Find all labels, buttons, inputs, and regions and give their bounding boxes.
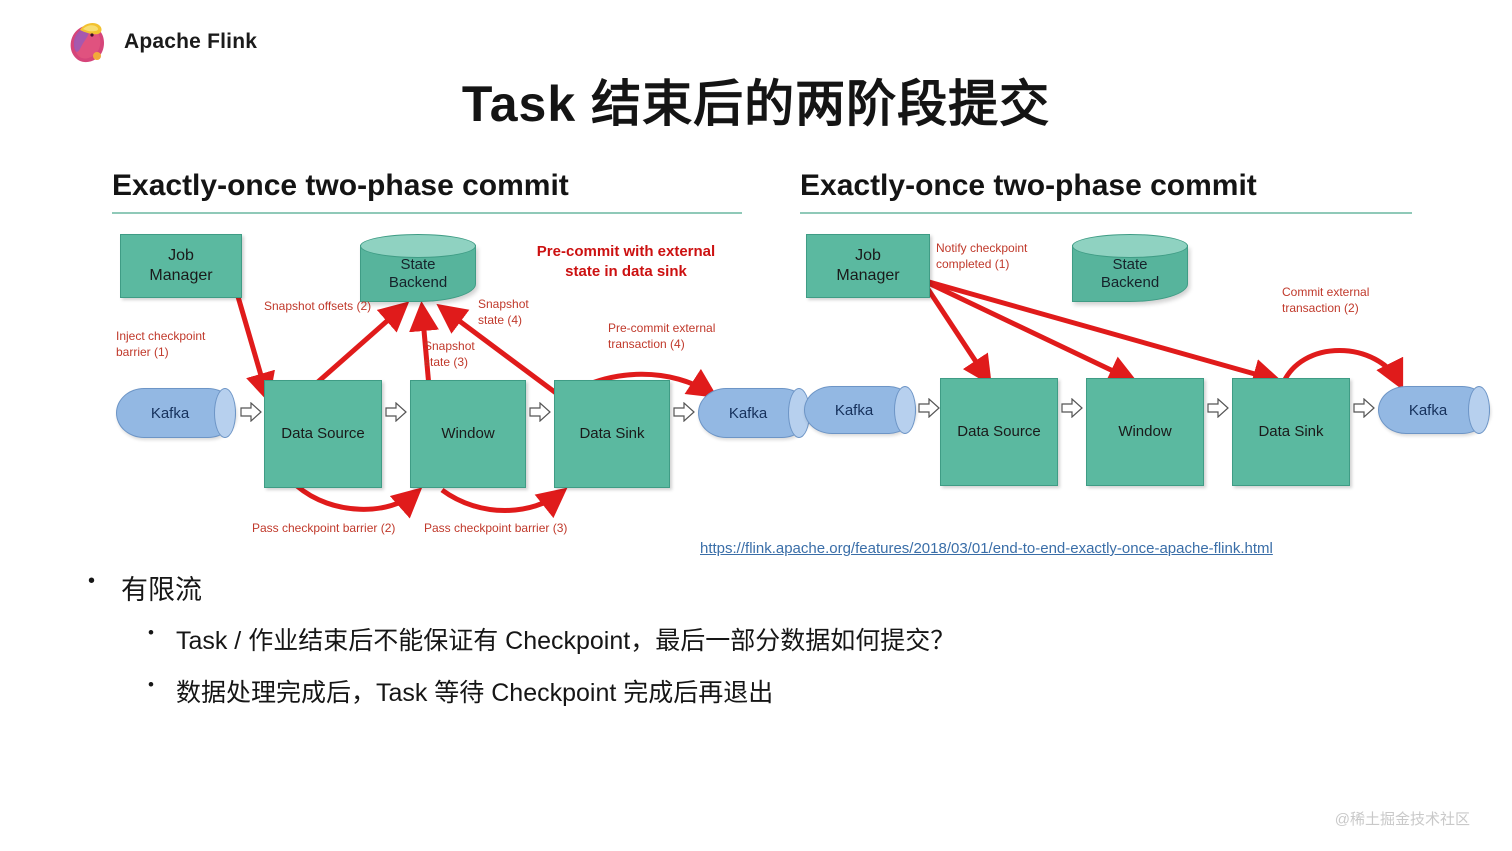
page-title: Task 结束后的两阶段提交 <box>0 64 1512 136</box>
node-label: Data Source <box>957 423 1040 441</box>
node-data-sink: Data Sink <box>554 380 670 488</box>
label-snapshot-state-4: Snapshot state (4) <box>478 296 558 328</box>
node-kafka-sink: Kafka <box>1378 386 1490 434</box>
node-state-backend: StateBackend <box>360 234 476 302</box>
flow-chevron-icon <box>673 402 695 422</box>
node-data-sink: Data Sink <box>1232 378 1350 486</box>
flink-squirrel-logo-icon <box>64 16 112 68</box>
node-label: Kafka <box>835 402 873 419</box>
bullet-level2-text: Task / 作业结束后不能保证有 Checkpoint，最后一部分数据如何提交… <box>176 621 955 657</box>
node-label: StateBackend <box>360 256 476 292</box>
node-job-manager: JobManager <box>806 234 930 298</box>
node-label: Kafka <box>1409 402 1447 419</box>
bullet-level2-text: 数据处理完成后，Task 等待 Checkpoint 完成后再退出 <box>176 673 773 709</box>
node-label: Window <box>441 425 494 443</box>
node-label: Window <box>1118 423 1171 441</box>
node-data-source: Data Source <box>940 378 1058 486</box>
diagram-panel-left: Exactly-once two-phase commit <box>112 168 742 538</box>
label-pass-checkpoint-barrier-2: Pass checkpoint barrier (2) <box>252 520 452 536</box>
node-label: JobManager <box>836 246 899 285</box>
node-label: Data Source <box>281 425 364 443</box>
watermark: @稀土掘金技术社区 <box>1335 808 1470 829</box>
bullet-level1: • 有限流 <box>88 568 1452 607</box>
node-kafka-source: Kafka <box>804 386 916 434</box>
node-label: Data Sink <box>1258 423 1323 441</box>
cylinder-top <box>360 234 476 258</box>
flow-chevron-icon <box>385 402 407 422</box>
cylinder-cap <box>1468 386 1490 434</box>
bullet-level2: • 数据处理完成后，Task 等待 Checkpoint 完成后再退出 <box>148 673 1452 709</box>
node-window: Window <box>1086 378 1204 486</box>
panel-rule-left <box>112 212 742 214</box>
source-link[interactable]: https://flink.apache.org/features/2018/0… <box>700 540 1273 557</box>
node-label: StateBackend <box>1072 256 1188 292</box>
flow-chevron-icon <box>1353 398 1375 418</box>
node-label: JobManager <box>149 246 212 285</box>
node-data-source: Data Source <box>264 380 382 488</box>
bullet-marker: • <box>148 673 154 698</box>
label-snapshot-offsets: Snapshot offsets (2) <box>264 298 414 314</box>
flow-chevron-icon <box>529 402 551 422</box>
diagram-panel-right: Exactly-once two-phase commit JobManager <box>800 168 1430 538</box>
panel-rule-right <box>800 212 1412 214</box>
flow-chevron-icon <box>1061 398 1083 418</box>
node-label: Kafka <box>729 405 767 422</box>
node-kafka-source: Kafka <box>116 388 236 438</box>
brand-name: Apache Flink <box>124 30 257 54</box>
brand: Apache Flink <box>64 16 257 68</box>
bullet-marker: • <box>88 568 95 595</box>
slide: Apache Flink Task 结束后的两阶段提交 Exactly-once… <box>0 0 1512 851</box>
panel-heading-left: Exactly-once two-phase commit <box>112 168 742 204</box>
label-commit-external-transaction: Commit external transaction (2) <box>1282 284 1432 316</box>
bullet-list: • 有限流 • Task / 作业结束后不能保证有 Checkpoint，最后一… <box>88 568 1452 725</box>
node-window: Window <box>410 380 526 488</box>
node-kafka-sink: Kafka <box>698 388 810 438</box>
node-job-manager: JobManager <box>120 234 242 298</box>
node-label: Data Sink <box>579 425 644 443</box>
bullet-level2: • Task / 作业结束后不能保证有 Checkpoint，最后一部分数据如何… <box>148 621 1452 657</box>
cylinder-cap <box>214 388 236 438</box>
label-precommit-external-transaction: Pre-commit external transaction (4) <box>608 320 748 352</box>
callout-precommit-external: Pre-commit with external state in data s… <box>516 242 736 281</box>
label-snapshot-state-3: Snapshot state (3) <box>424 338 504 370</box>
diagram-canvas-right: JobManager StateBackend Kafka Data Sourc… <box>800 228 1430 538</box>
flow-chevron-icon <box>240 402 262 422</box>
flow-chevron-icon <box>1207 398 1229 418</box>
bullet-level1-text: 有限流 <box>121 568 202 607</box>
label-inject-checkpoint-barrier: Inject checkpoint barrier (1) <box>116 328 276 360</box>
node-label: Kafka <box>151 405 189 422</box>
label-pass-checkpoint-barrier-3: Pass checkpoint barrier (3) <box>424 520 624 536</box>
panel-heading-right: Exactly-once two-phase commit <box>800 168 1430 204</box>
cylinder-cap <box>894 386 916 434</box>
bullet-marker: • <box>148 621 154 646</box>
diagram-canvas-left: JobManager StateBackend Kafka Data Sourc… <box>112 228 742 538</box>
flow-chevron-icon <box>918 398 940 418</box>
